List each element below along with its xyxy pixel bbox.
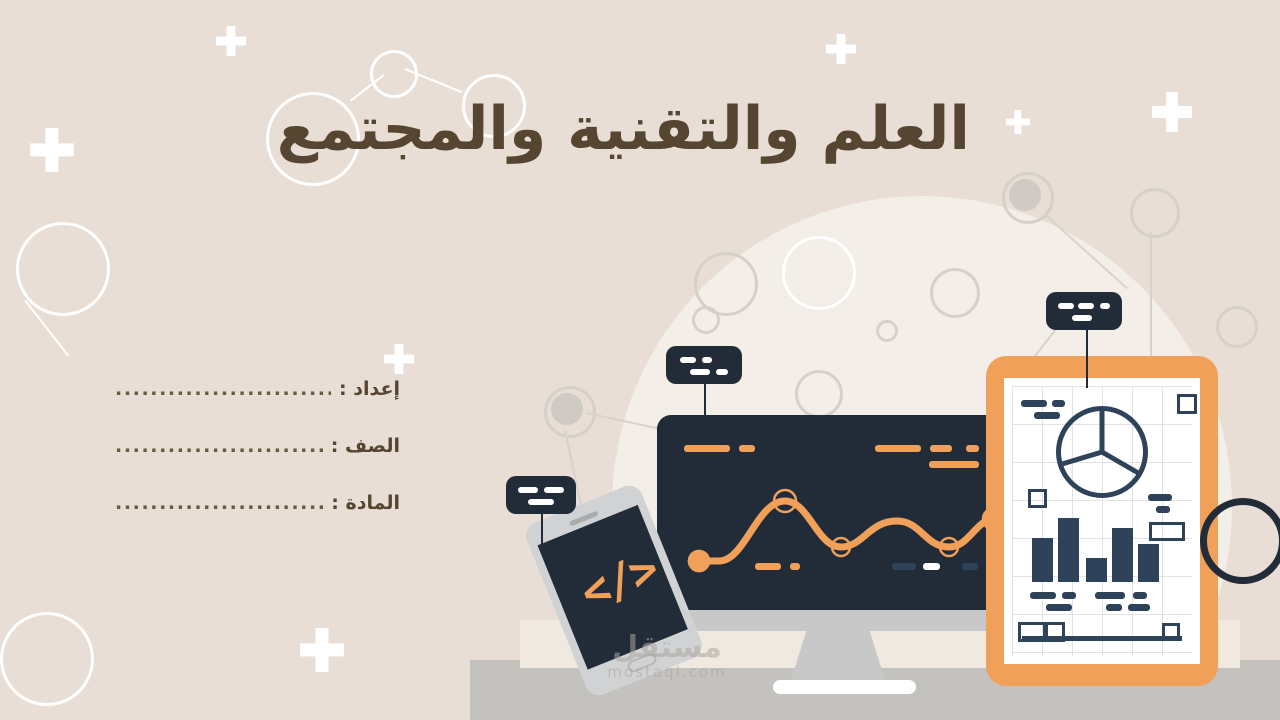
page-title: العلم والتقنية والمجتمع	[290, 92, 970, 167]
tablet-dash-8	[1046, 604, 1072, 611]
tooltip-stem-left	[541, 512, 543, 546]
meta-dots-prepared-by[interactable]: .............................	[115, 378, 331, 400]
meta-row-class: الصف : .............................	[115, 435, 400, 457]
code-icon: </>	[553, 536, 685, 625]
tooltip-tablet-dash-4	[1072, 315, 1092, 321]
tooltip-left-dash-1	[518, 487, 538, 493]
tablet-dash-6	[1030, 592, 1056, 599]
tablet-dash-11	[1106, 604, 1122, 611]
screen-dash-8	[790, 563, 800, 570]
tablet-dash-1	[1021, 400, 1047, 407]
bar-4	[1112, 528, 1133, 582]
meta-dots-subject[interactable]: .............................	[115, 492, 323, 514]
meta-label-class: الصف :	[331, 435, 400, 457]
monitor-base	[773, 680, 916, 694]
bar-3	[1086, 558, 1107, 582]
tooltip-left[interactable]	[506, 476, 576, 514]
tooltip-monitor-dash-1	[680, 357, 696, 363]
presentation-slide: العلم والتقنية والمجتمع إعداد : ........…	[0, 0, 1280, 720]
bar-1	[1032, 538, 1053, 582]
monitor-line-chart	[657, 415, 1017, 610]
phone-home-button[interactable]	[626, 652, 658, 674]
meta-row-subject: المادة : .............................	[115, 492, 400, 514]
bar-5	[1138, 544, 1159, 582]
tablet-rect-1	[1149, 522, 1185, 541]
tablet-pie-segments	[1052, 402, 1152, 502]
tooltip-monitor-dash-3	[690, 369, 710, 375]
tooltip-tablet-dash-3	[1100, 303, 1110, 309]
tablet-dash-4	[1148, 494, 1172, 501]
desktop-monitor-screen[interactable]	[657, 415, 1017, 610]
tablet-dash-9	[1095, 592, 1125, 599]
meta-label-prepared-by: إعداد :	[339, 378, 400, 400]
meta-fields: إعداد : ............................. ال…	[115, 378, 400, 549]
tablet-square-2	[1028, 489, 1047, 508]
tablet-bottom-rule	[1022, 636, 1182, 641]
tooltip-monitor-dash-4	[716, 369, 728, 375]
tooltip-monitor[interactable]	[666, 346, 742, 384]
screen-dash-10	[923, 563, 940, 570]
tablet-square-1	[1177, 394, 1197, 414]
tooltip-tablet-dash-1	[1058, 303, 1074, 309]
tooltip-monitor-dash-2	[702, 357, 712, 363]
screen-dash-7	[755, 563, 781, 570]
tooltip-left-dash-2	[544, 487, 564, 493]
meta-label-subject: المادة :	[331, 492, 400, 514]
tablet-bar-chart	[1024, 510, 1184, 582]
tooltip-tablet-dash-2	[1078, 303, 1094, 309]
tooltip-stem-tablet	[1086, 326, 1088, 388]
tablet-dash-12	[1128, 604, 1150, 611]
meta-row-prepared-by: إعداد : .............................	[115, 378, 400, 400]
tablet-dash-10	[1133, 592, 1147, 599]
tooltip-tablet[interactable]	[1046, 292, 1122, 330]
tablet-dash-7	[1062, 592, 1076, 599]
screen-dash-9	[892, 563, 916, 570]
meta-dots-class[interactable]: .............................	[115, 435, 323, 457]
tooltip-stem-monitor	[704, 384, 706, 426]
tooltip-left-dash-3	[528, 499, 554, 505]
tablet-dash-5	[1156, 506, 1170, 513]
decor-ring-dark	[1200, 498, 1280, 584]
bar-2	[1058, 518, 1079, 582]
screen-dash-11	[962, 563, 978, 570]
